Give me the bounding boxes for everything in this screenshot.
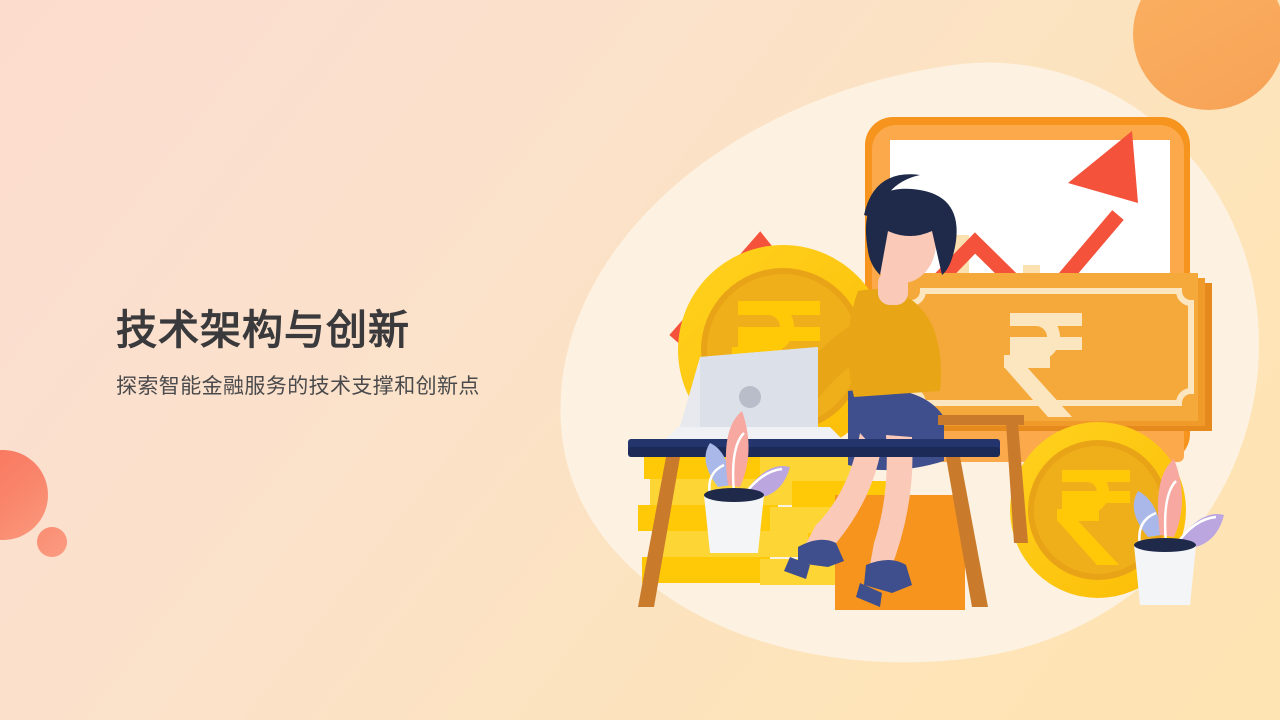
- page-title: 技术架构与创新: [116, 305, 636, 356]
- plant-soil: [704, 488, 764, 502]
- finance-analytics-illustration: [620, 95, 1260, 655]
- slide-root: 技术架构与创新 探索智能金融服务的技术支撑和创新点: [0, 0, 1280, 720]
- plant-pot: [704, 495, 764, 553]
- plant-pot: [1134, 545, 1196, 605]
- rupee-banknote: [904, 273, 1212, 431]
- decorative-circle-top-right: [1133, 0, 1280, 110]
- text-block: 技术架构与创新 探索智能金融服务的技术支撑和创新点: [116, 305, 636, 400]
- laptop-logo: [739, 386, 761, 408]
- page-subtitle: 探索智能金融服务的技术支撑和创新点: [116, 370, 636, 400]
- decorative-circle-bottom-left-small: [37, 527, 67, 557]
- plant-soil: [1134, 538, 1196, 552]
- decorative-circle-bottom-left-large: [0, 450, 48, 540]
